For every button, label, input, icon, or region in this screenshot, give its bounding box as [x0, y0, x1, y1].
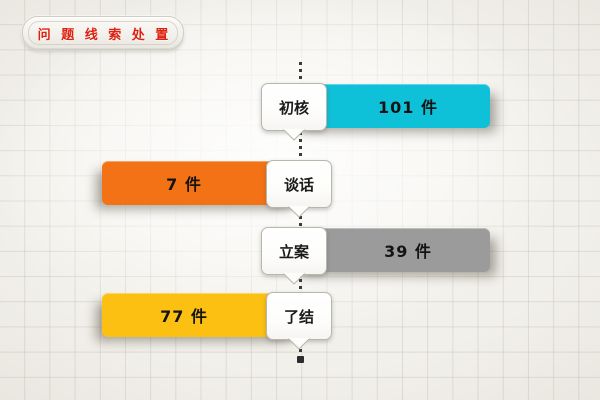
notch-liaojie — [288, 338, 310, 350]
flow-row-liaojie: 77 件 了结 — [0, 292, 600, 340]
infographic-canvas: 问 题 线 索 处 置 101 件 初核 7 件 谈话 — [0, 0, 600, 400]
stage-label-liaojie: 了结 — [284, 306, 314, 327]
flow-row-lian: 39 件 立案 — [0, 227, 600, 275]
value-label-lian: 39 件 — [384, 238, 432, 262]
flow-spine-end-dot — [297, 356, 304, 363]
notch-lian — [283, 273, 305, 285]
value-label-tanhua: 7 件 — [166, 171, 202, 195]
stage-label-box-chuhe[interactable]: 初核 — [261, 83, 327, 131]
flow-row-chuhe: 101 件 初核 — [0, 83, 600, 131]
notch-tanhua — [288, 206, 310, 218]
stage-label-box-liaojie[interactable]: 了结 — [266, 292, 332, 340]
value-label-liaojie: 77 件 — [160, 303, 208, 327]
stage-label-lian: 立案 — [279, 241, 309, 262]
title-badge: 问 题 线 索 处 置 — [22, 16, 184, 50]
stage-label-chuhe: 初核 — [279, 97, 309, 118]
stage-label-box-tanhua[interactable]: 谈话 — [266, 160, 332, 208]
title-badge-inner-ring: 问 题 线 索 处 置 — [28, 21, 178, 45]
flow-row-tanhua: 7 件 谈话 — [0, 160, 600, 208]
notch-chuhe — [283, 129, 305, 141]
value-label-chuhe: 101 件 — [378, 94, 438, 118]
stage-label-tanhua: 谈话 — [284, 174, 314, 195]
page-title: 问 题 线 索 处 置 — [35, 24, 172, 43]
stage-label-box-lian[interactable]: 立案 — [261, 227, 327, 275]
